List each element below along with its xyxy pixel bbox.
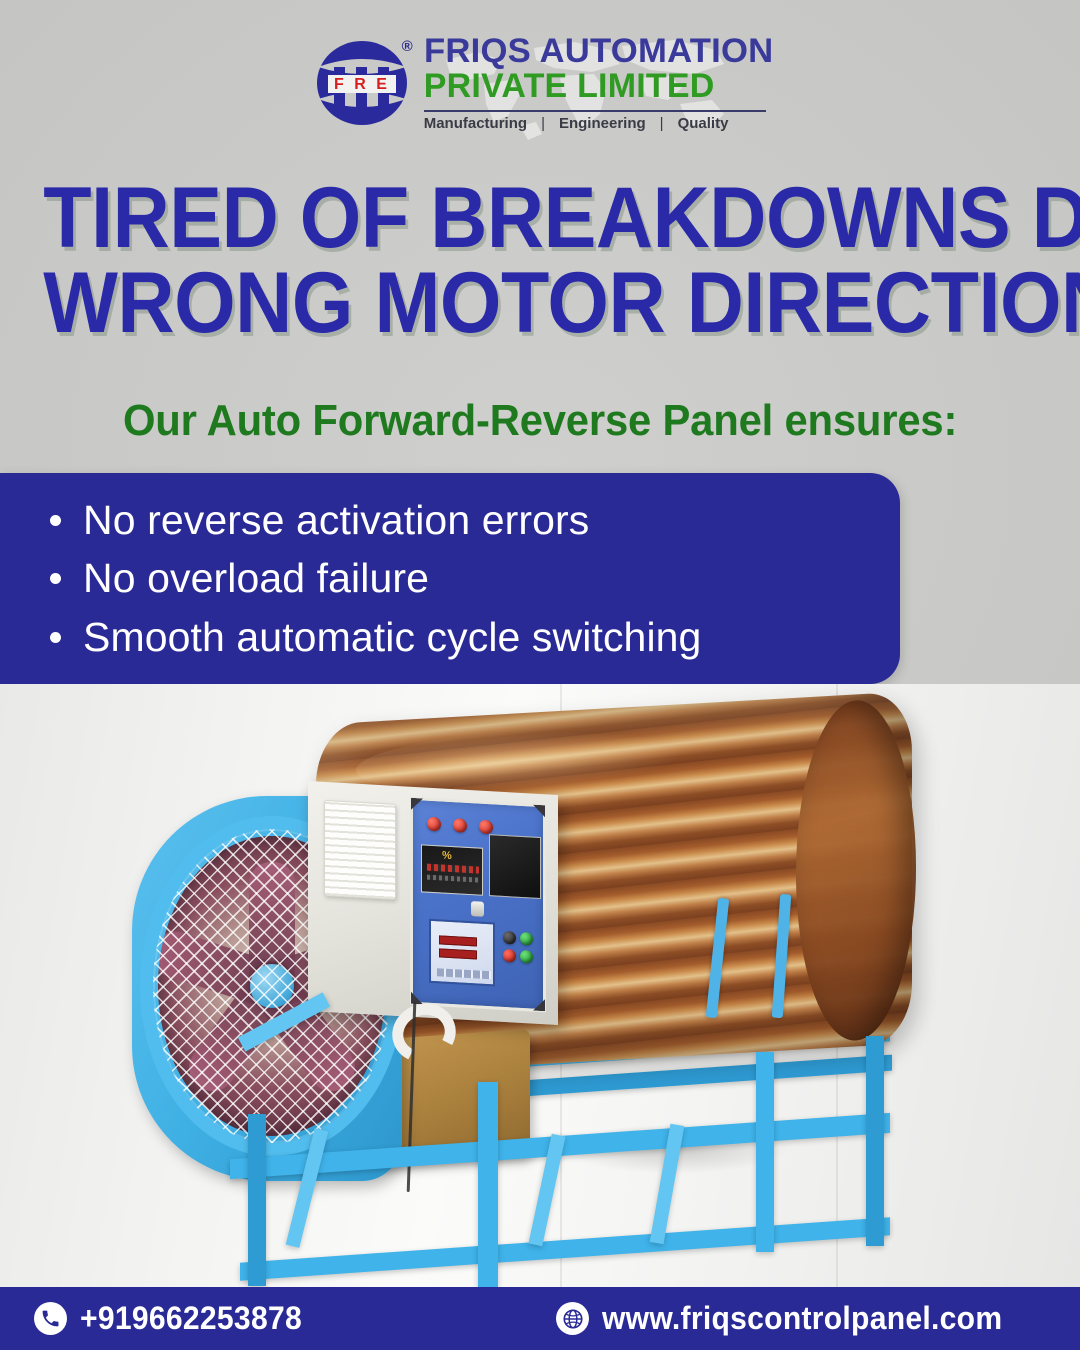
tagline-quality: Quality xyxy=(678,115,729,132)
indicator-lamp-red[interactable] xyxy=(479,820,493,835)
registered-trademark-symbol: ® xyxy=(402,39,413,54)
list-item: No reverse activation errors xyxy=(50,491,900,549)
list-item: No overload failure xyxy=(50,549,900,607)
globe-icon xyxy=(556,1302,589,1335)
stand-leg xyxy=(756,1052,774,1252)
contact-footer: +919662253878 www.friqscontrolpanel.com xyxy=(0,1287,1080,1350)
brand-divider-rule xyxy=(424,110,767,112)
stand-leg xyxy=(248,1114,266,1286)
stand-beam-front-bottom xyxy=(240,1217,890,1280)
tagline-separator-1: | xyxy=(541,115,545,132)
control-panel-face: % xyxy=(410,797,546,1013)
phone-number: +919662253878 xyxy=(80,1300,302,1337)
headline: TIRED OF BREAKDOWNS DUE TO WRONG MOTOR D… xyxy=(0,176,1080,346)
benefit-text: No reverse activation errors xyxy=(83,491,589,549)
website-url: www.friqscontrolpanel.com xyxy=(602,1300,1002,1337)
footer-phone[interactable]: +919662253878 xyxy=(34,1300,316,1337)
display-readout-bar xyxy=(427,875,479,883)
poster-canvas: F R E ® FRIQS AUTOMATION xyxy=(0,0,1080,1350)
benefits-panel: No reverse activation errors No overload… xyxy=(0,473,900,684)
headline-line-1: TIRED OF BREAKDOWNS DUE TO xyxy=(43,176,1037,261)
panel-corner-bracket xyxy=(533,805,545,818)
bullet-dot-icon xyxy=(50,632,61,643)
brand-header: F R E ® FRIQS AUTOMATION xyxy=(0,22,1080,144)
brand-name-line1: FRIQS AUTOMATION xyxy=(424,34,773,68)
product-photo: % xyxy=(0,684,1080,1287)
tagline-manufacturing: Manufacturing xyxy=(424,115,527,132)
tagline-engineering: Engineering xyxy=(559,115,646,132)
svg-text:F R E: F R E xyxy=(334,76,390,93)
phone-icon xyxy=(34,1302,67,1335)
push-button-red[interactable] xyxy=(503,949,516,963)
friqs-logo-icon: F R E ® xyxy=(314,37,410,129)
control-panel-enclosure: % xyxy=(308,781,558,1025)
digital-timer-meter xyxy=(429,919,495,987)
push-button-green[interactable] xyxy=(520,932,533,946)
panel-corner-bracket xyxy=(411,798,423,811)
benefit-text: No overload failure xyxy=(83,549,429,607)
meter-digit-row xyxy=(439,935,477,946)
meter-digit-row xyxy=(439,948,477,959)
brand-tagline: Manufacturing | Engineering | Quality xyxy=(424,115,767,132)
selector-switch[interactable] xyxy=(471,901,484,917)
headline-line-2: WRONG MOTOR DIRECTION? xyxy=(43,261,1037,346)
bullet-dot-icon xyxy=(50,515,61,526)
indicator-lamp-red[interactable] xyxy=(427,817,441,832)
benefit-text: Smooth automatic cycle switching xyxy=(83,608,701,666)
footer-website[interactable]: www.friqscontrolpanel.com xyxy=(556,1300,1028,1337)
logo-lockup: F R E ® FRIQS AUTOMATION xyxy=(314,34,767,132)
brand-name-line2: PRIVATE LIMITED xyxy=(424,69,767,105)
indicator-lamp-red[interactable] xyxy=(453,818,467,833)
stand-leg xyxy=(866,1036,884,1246)
tagline-separator-2: | xyxy=(660,115,664,132)
push-button-black[interactable] xyxy=(503,931,516,945)
subheadline-text: Our Auto Forward-Reverse Panel ensures: xyxy=(123,396,957,446)
drum-end-cap xyxy=(796,697,916,1044)
push-button-green[interactable] xyxy=(520,950,533,964)
vfd-drive-module xyxy=(489,834,541,899)
meter-keypad[interactable] xyxy=(437,968,491,979)
brand-wordmark: FRIQS AUTOMATION PRIVATE LIMITED Manufac… xyxy=(424,34,767,132)
stand-leg xyxy=(478,1082,498,1287)
bullet-dot-icon xyxy=(50,573,61,584)
display-percent-glyph: % xyxy=(442,850,452,863)
list-item: Smooth automatic cycle switching xyxy=(50,608,900,666)
controller-display: % xyxy=(421,844,483,895)
benefits-list: No reverse activation errors No overload… xyxy=(50,491,900,666)
subheadline: Our Auto Forward-Reverse Panel ensures: xyxy=(0,396,1080,446)
display-readout-bar xyxy=(427,864,479,874)
panel-vent-louver xyxy=(324,800,396,900)
panel-corner-bracket xyxy=(533,999,545,1012)
